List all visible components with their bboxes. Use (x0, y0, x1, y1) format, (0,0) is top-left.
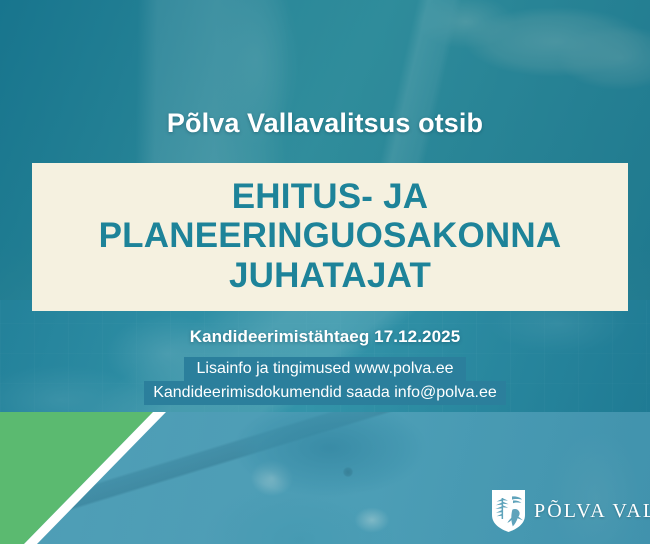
job-title: EHITUS- JA PLANEERINGUOSAKONNA JUHATAJAT (32, 177, 628, 297)
kicker-headline: Põlva Vallavalitsus otsib (0, 108, 650, 139)
job-title-panel: EHITUS- JA PLANEERINGUOSAKONNA JUHATAJAT (32, 163, 628, 311)
application-deadline: Kandideerimistähtaeg 17.12.2025 (0, 327, 650, 347)
job-title-line-2: PLANEERINGUOSAKONNA (32, 216, 628, 255)
job-title-line-3: JUHATAJAT (32, 256, 628, 295)
job-advert-poster: Põlva Vallavalitsus otsib EHITUS- JA PLA… (0, 0, 650, 544)
contact-info-block: Lisainfo ja tingimused www.polva.ee Kand… (0, 357, 650, 405)
logo-wordmark: PÕLVA VALD (534, 500, 650, 523)
job-title-line-1: EHITUS- JA (32, 177, 628, 216)
info-line-email: Kandideerimisdokumendid saada info@polva… (144, 381, 506, 405)
polva-vald-logo: PÕLVA VALD (492, 490, 650, 532)
info-line-website: Lisainfo ja tingimused www.polva.ee (184, 357, 465, 381)
polva-coat-of-arms-icon (492, 490, 525, 532)
